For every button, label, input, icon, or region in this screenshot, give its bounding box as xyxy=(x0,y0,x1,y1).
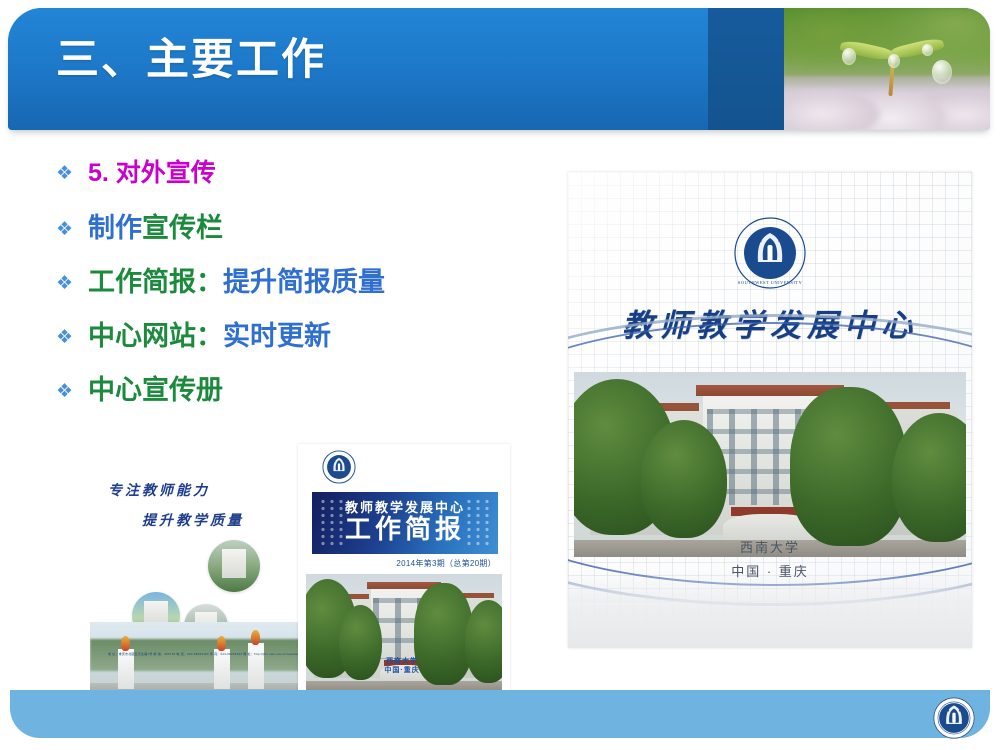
diamond-bullet-icon: ❖ xyxy=(56,328,88,347)
university-seal-icon xyxy=(322,450,356,484)
list-item: ❖ 中心网站：实时更新 xyxy=(56,322,526,376)
bullet-list: ❖ 5. 对外宣传 ❖ 制作宣传栏 ❖ 工作简报：提升简报质量 ❖ 中心网站：实… xyxy=(56,160,526,430)
text-segment: 中心网站： xyxy=(88,321,223,351)
tree xyxy=(414,583,473,684)
gate-pillar xyxy=(248,643,264,689)
university-seal-icon: SOUTHWEST UNIVERSITY xyxy=(733,216,807,290)
brochure-cover-image: SOUTHWEST UNIVERSITY 教师教学发展中心 西南大学 中国 · … xyxy=(568,172,972,648)
newsletter-cover-image: 教师教学发展中心 工作简报 2014年第3期（总第20期） 西南大学中国·重庆 xyxy=(298,444,510,698)
tree xyxy=(641,420,727,538)
tree xyxy=(790,387,908,546)
slogan-line-2: 提升教学质量 xyxy=(142,510,244,530)
campus-building-photo: 西南大学中国·重庆 xyxy=(306,574,502,692)
diamond-bullet-icon: ❖ xyxy=(56,274,88,293)
list-item: ❖ 中心宣传册 xyxy=(56,376,526,430)
building-name-sign: 西南大学中国·重庆 xyxy=(384,657,419,675)
text-segment: 提升简报质量 xyxy=(223,267,385,297)
page-title: 三、主要工作 xyxy=(56,39,326,82)
contact-info-text: 地 址：重庆市北碚区天生路2号 邮 编：400715 电 话：023-68253… xyxy=(108,652,300,657)
text-segment: 制作 xyxy=(88,213,142,243)
diamond-bullet-icon: ❖ xyxy=(56,164,88,183)
gate-flame-ornament xyxy=(251,630,260,645)
header-accent-strip xyxy=(708,8,788,130)
list-item: ❖ 制作宣传栏 xyxy=(56,214,526,268)
brochure-footer-text: 西南大学 中国 · 重庆 xyxy=(568,536,972,584)
water-droplet xyxy=(922,44,933,56)
text-segment: 工作简报： xyxy=(88,267,223,297)
text-segment: 宣传栏 xyxy=(142,213,223,243)
brochure-title: 教师教学发展中心 xyxy=(568,300,972,345)
gate-flame-ornament xyxy=(217,636,226,651)
photo-pebbles xyxy=(784,76,990,130)
newsletter-title: 工作简报 xyxy=(312,515,498,544)
brochure-inner-page: 专注教师能力 提升教学质量 地 址：重庆市北碚区天生路2号 邮 编：400715… xyxy=(90,462,300,698)
brochure-location: 中国 · 重庆 xyxy=(568,560,972,584)
list-item-text: 5. 对外宣传 xyxy=(88,160,216,188)
text-segment: 中心宣传册 xyxy=(88,375,223,405)
brochure-university-name: 西南大学 xyxy=(568,536,972,560)
campus-gate-photo: 地 址：重庆市北碚区天生路2号 邮 编：400715 电 话：023-68253… xyxy=(90,622,300,698)
svg-text:SOUTHWEST UNIVERSITY: SOUTHWEST UNIVERSITY xyxy=(738,280,803,285)
gate-flame-ornament xyxy=(121,636,130,651)
university-seal-icon xyxy=(932,696,976,740)
slide-header-banner: 三、主要工作 xyxy=(8,8,990,130)
slogan-line-1: 专注教师能力 xyxy=(108,480,210,500)
list-item-text: 制作宣传栏 xyxy=(88,214,223,244)
list-item: ❖ 工作简报：提升简报质量 xyxy=(56,268,526,322)
newsletter-title-band: 教师教学发展中心 工作简报 xyxy=(312,492,498,554)
newsletter-issue-number: 2014年第3期（总第20期） xyxy=(396,558,496,569)
diamond-bullet-icon: ❖ xyxy=(56,220,88,239)
text-segment: 实时更新 xyxy=(223,321,331,351)
text-segment: 5. 对外宣传 xyxy=(88,159,216,187)
water-droplet xyxy=(842,48,856,65)
list-item-text: 中心网站：实时更新 xyxy=(88,322,331,352)
tree xyxy=(339,605,382,681)
brochure-and-newsletter-collage: 专注教师能力 提升教学质量 地 址：重庆市北碚区天生路2号 邮 编：400715… xyxy=(90,444,510,698)
building-shape xyxy=(222,549,247,578)
campus-building-photo xyxy=(574,372,966,557)
list-item: ❖ 5. 对外宣传 xyxy=(56,160,526,214)
water-droplet xyxy=(888,54,900,68)
photo-green-backdrop xyxy=(784,8,990,86)
list-item-text: 中心宣传册 xyxy=(88,376,223,406)
tree xyxy=(465,600,502,683)
sprout-photo xyxy=(784,8,990,130)
diamond-bullet-icon: ❖ xyxy=(56,382,88,401)
slide-footer-band xyxy=(10,690,990,738)
water-droplet xyxy=(932,60,952,84)
circular-campus-photo xyxy=(208,540,260,592)
list-item-text: 工作简报：提升简报质量 xyxy=(88,268,385,298)
